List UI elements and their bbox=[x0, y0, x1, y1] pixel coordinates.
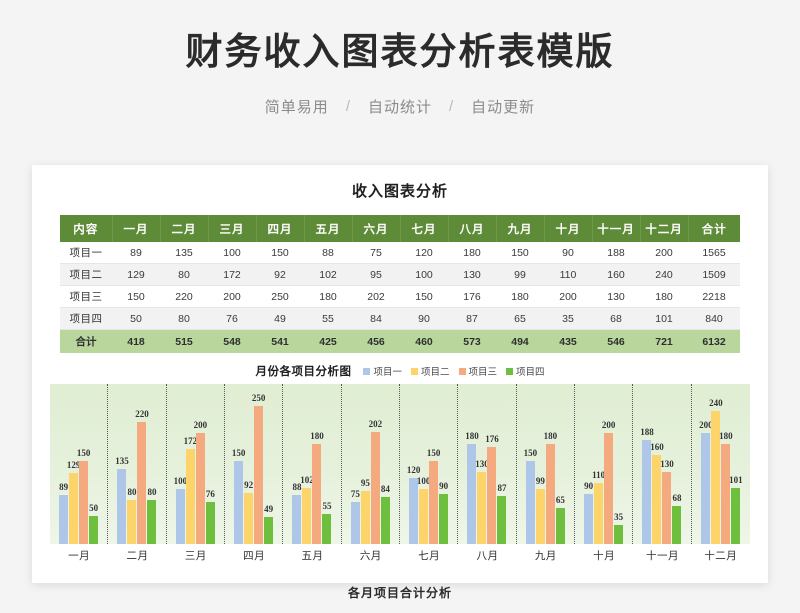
table-cell: 180 bbox=[640, 286, 688, 308]
chart-bar[interactable]: 92 bbox=[244, 493, 253, 544]
table-cell: 90 bbox=[400, 308, 448, 330]
table-cell: 49 bbox=[256, 308, 304, 330]
table-row-label: 项目四 bbox=[60, 308, 112, 330]
table-cell: 88 bbox=[304, 242, 352, 264]
chart-bar-group: 18013017687 bbox=[458, 384, 515, 544]
table-col-header-8: 八月 bbox=[448, 215, 496, 242]
table-header-row: 内容一月二月三月四月五月六月七月八月九月十月十一月十二月合计 bbox=[60, 215, 740, 242]
chart-bar[interactable]: 200 bbox=[196, 433, 205, 544]
table-col-header-5: 五月 bbox=[304, 215, 352, 242]
legend-swatch-icon bbox=[411, 368, 418, 375]
table-col-header-12: 十二月 bbox=[640, 215, 688, 242]
subtitle-separator-2: / bbox=[449, 98, 454, 115]
legend-item-3[interactable]: 项目三 bbox=[459, 364, 498, 378]
table-cell: 80 bbox=[160, 264, 208, 286]
table-cell: 68 bbox=[592, 308, 640, 330]
chart-title: 月份各项目分析图 bbox=[255, 363, 351, 379]
chart-bar-value-label: 150 bbox=[77, 448, 91, 458]
table-cell: 92 bbox=[256, 264, 304, 286]
chart-bar[interactable]: 150 bbox=[234, 461, 243, 544]
chart-x-tick-label: 十一月 bbox=[633, 548, 691, 563]
chart-bar-value-label: 150 bbox=[427, 448, 441, 458]
chart-bar[interactable]: 99 bbox=[536, 489, 545, 544]
chart-bar[interactable]: 89 bbox=[59, 495, 68, 544]
chart-bar[interactable]: 130 bbox=[477, 472, 486, 544]
chart-bar-value-label: 180 bbox=[544, 431, 558, 441]
table-total-cell: 425 bbox=[304, 330, 352, 354]
chart-bar-value-label: 90 bbox=[584, 481, 593, 491]
table-total-cell: 573 bbox=[448, 330, 496, 354]
chart-bar-group: 200240180101 bbox=[692, 384, 750, 544]
table-cell: 150 bbox=[496, 242, 544, 264]
chart-bar[interactable]: 100 bbox=[419, 489, 428, 544]
chart-x-tick-label: 十月 bbox=[575, 548, 633, 563]
chart-month-group: 10017220076 bbox=[167, 384, 225, 544]
chart-x-tick-label: 一月 bbox=[50, 548, 108, 563]
table-cell: 172 bbox=[208, 264, 256, 286]
chart-bar[interactable]: 87 bbox=[497, 496, 506, 544]
chart-bar[interactable]: 80 bbox=[127, 500, 136, 544]
chart-bar[interactable]: 75 bbox=[351, 502, 360, 544]
chart-bar-value-label: 176 bbox=[485, 434, 499, 444]
chart-bar[interactable]: 150 bbox=[526, 461, 535, 544]
table-cell: 65 bbox=[496, 308, 544, 330]
chart-bar-value-label: 65 bbox=[556, 495, 565, 505]
table-cell: 150 bbox=[400, 286, 448, 308]
table-col-header-7: 七月 bbox=[400, 215, 448, 242]
chart-x-tick-label: 七月 bbox=[400, 548, 458, 563]
subtitle-separator-1: / bbox=[346, 98, 351, 115]
chart-bar[interactable]: 220 bbox=[137, 422, 146, 544]
chart-bar-value-label: 87 bbox=[497, 483, 506, 493]
chart-month-group: 8912915050 bbox=[50, 384, 108, 544]
table-cell: 110 bbox=[544, 264, 592, 286]
table-cell: 89 bbox=[112, 242, 160, 264]
chart-bar-value-label: 160 bbox=[650, 442, 664, 452]
table-cell: 75 bbox=[352, 242, 400, 264]
chart-bar-group: 8912915050 bbox=[50, 384, 107, 544]
legend-label: 项目三 bbox=[469, 364, 498, 378]
chart-bar-value-label: 200 bbox=[602, 420, 616, 430]
table-cell: 55 bbox=[304, 308, 352, 330]
table-row: 项目一891351001508875120180150901882001565 bbox=[60, 242, 740, 264]
legend-label: 项目四 bbox=[516, 364, 545, 378]
table-cell: 84 bbox=[352, 308, 400, 330]
chart-bar-value-label: 150 bbox=[524, 448, 538, 458]
chart-bar-value-label: 180 bbox=[310, 431, 324, 441]
chart-month-group: 9011020035 bbox=[575, 384, 633, 544]
legend-swatch-icon bbox=[363, 368, 370, 375]
table-cell: 180 bbox=[304, 286, 352, 308]
table-col-header-11: 十一月 bbox=[592, 215, 640, 242]
chart-bar[interactable]: 65 bbox=[556, 508, 565, 544]
table-total-cell: 494 bbox=[496, 330, 544, 354]
chart-bar[interactable]: 188 bbox=[642, 440, 651, 544]
chart-bar-value-label: 35 bbox=[614, 512, 623, 522]
chart-bar-group: 18816013068 bbox=[633, 384, 690, 544]
chart-bar[interactable]: 150 bbox=[429, 461, 438, 544]
chart-bar-value-label: 200 bbox=[194, 420, 208, 430]
chart-bar-value-label: 95 bbox=[361, 478, 370, 488]
chart-bar-value-label: 180 bbox=[719, 431, 733, 441]
content-card: 收入图表分析 内容一月二月三月四月五月六月七月八月九月十月十一月十二月合计 项目… bbox=[32, 165, 768, 583]
table-total-cell: 456 bbox=[352, 330, 400, 354]
chart-month-group: 759520284 bbox=[342, 384, 400, 544]
chart-bar[interactable]: 76 bbox=[206, 502, 215, 544]
chart-bar-value-label: 188 bbox=[640, 427, 654, 437]
chart-bar-value-label: 130 bbox=[660, 459, 674, 469]
chart-month-group: 18816013068 bbox=[633, 384, 691, 544]
chart-bar[interactable]: 250 bbox=[254, 406, 263, 544]
table-row: 项目二129801729210295100130991101602401509 bbox=[60, 264, 740, 286]
chart-bar[interactable]: 49 bbox=[264, 517, 273, 544]
chart-bar-value-label: 101 bbox=[729, 475, 743, 485]
table-total-cell: 721 bbox=[640, 330, 688, 354]
chart-bar-value-label: 75 bbox=[351, 489, 360, 499]
legend-swatch-icon bbox=[459, 368, 466, 375]
chart-bar-value-label: 90 bbox=[439, 481, 448, 491]
chart-bar-value-label: 89 bbox=[59, 482, 68, 492]
chart-bar[interactable]: 90 bbox=[584, 494, 593, 544]
table-total-cell: 418 bbox=[112, 330, 160, 354]
chart-bar-value-label: 76 bbox=[206, 489, 215, 499]
legend-label: 项目二 bbox=[421, 364, 450, 378]
table-cell: 160 bbox=[592, 264, 640, 286]
chart-month-group: 12010015090 bbox=[400, 384, 458, 544]
table-cell: 150 bbox=[112, 286, 160, 308]
chart-bar[interactable]: 135 bbox=[117, 469, 126, 544]
chart-bar[interactable]: 202 bbox=[371, 432, 380, 544]
table-row: 项目三1502202002501802021501761802001301802… bbox=[60, 286, 740, 308]
chart-bar[interactable]: 200 bbox=[604, 433, 613, 544]
chart-bar[interactable]: 200 bbox=[701, 433, 710, 544]
legend-swatch-icon bbox=[506, 368, 513, 375]
table-cell: 99 bbox=[496, 264, 544, 286]
table-cell: 35 bbox=[544, 308, 592, 330]
table-col-header-1: 一月 bbox=[112, 215, 160, 242]
chart-bar-value-label: 49 bbox=[264, 504, 273, 514]
table-total-cell: 460 bbox=[400, 330, 448, 354]
chart-plot-area: 8912915050135802208010017220076150922504… bbox=[50, 384, 750, 544]
table-cell: 80 bbox=[160, 308, 208, 330]
chart-bar-value-label: 80 bbox=[127, 487, 136, 497]
chart-month-group: 1358022080 bbox=[108, 384, 166, 544]
table-row-label: 项目二 bbox=[60, 264, 112, 286]
chart-bar[interactable]: 180 bbox=[546, 444, 555, 544]
table-row-label: 项目三 bbox=[60, 286, 112, 308]
chart-bar-value-label: 99 bbox=[536, 476, 545, 486]
legend-item-1[interactable]: 项目一 bbox=[363, 364, 402, 378]
chart-bar-value-label: 80 bbox=[147, 487, 156, 497]
table-title: 收入图表分析 bbox=[32, 165, 768, 201]
table-grand-total: 6132 bbox=[688, 330, 740, 354]
chart-bar[interactable]: 90 bbox=[439, 494, 448, 544]
chart-bar-value-label: 150 bbox=[232, 448, 246, 458]
chart-bar[interactable]: 50 bbox=[89, 516, 98, 544]
table-cell: 130 bbox=[448, 264, 496, 286]
table-total-cell: 435 bbox=[544, 330, 592, 354]
chart-bar[interactable]: 68 bbox=[672, 506, 681, 544]
chart-bar[interactable]: 88 bbox=[292, 495, 301, 544]
chart-bar[interactable]: 55 bbox=[322, 514, 331, 544]
chart-bar-group: 8810218055 bbox=[283, 384, 340, 544]
chart-bar-group: 1509918065 bbox=[517, 384, 574, 544]
chart-x-tick-label: 四月 bbox=[225, 548, 283, 563]
chart-bar-value-label: 240 bbox=[709, 398, 723, 408]
table-total-cell: 548 bbox=[208, 330, 256, 354]
table-col-header-2: 二月 bbox=[160, 215, 208, 242]
table-cell: 200 bbox=[640, 242, 688, 264]
table-cell: 95 bbox=[352, 264, 400, 286]
chart-bar[interactable]: 101 bbox=[731, 488, 740, 544]
table-col-header-3: 三月 bbox=[208, 215, 256, 242]
table-cell: 87 bbox=[448, 308, 496, 330]
table-cell: 200 bbox=[208, 286, 256, 308]
table-col-header-0: 内容 bbox=[60, 215, 112, 242]
table-cell: 150 bbox=[256, 242, 304, 264]
chart-bar-group: 1358022080 bbox=[108, 384, 165, 544]
chart-bar-value-label: 92 bbox=[244, 480, 253, 490]
chart-bar-value-label: 180 bbox=[465, 431, 479, 441]
table-cell: 129 bbox=[112, 264, 160, 286]
table-row: 项目四5080764955849087653568101840 bbox=[60, 308, 740, 330]
chart-x-tick-label: 五月 bbox=[283, 548, 341, 563]
table-total-cell: 515 bbox=[160, 330, 208, 354]
table-cell: 101 bbox=[640, 308, 688, 330]
chart-x-tick-label: 二月 bbox=[108, 548, 166, 563]
chart-bar[interactable]: 84 bbox=[381, 497, 390, 544]
chart-x-tick-label: 六月 bbox=[342, 548, 400, 563]
legend-item-4[interactable]: 项目四 bbox=[506, 364, 545, 378]
legend-item-2[interactable]: 项目二 bbox=[411, 364, 450, 378]
chart-month-group: 1509225049 bbox=[225, 384, 283, 544]
table-total-cell: 541 bbox=[256, 330, 304, 354]
table-cell: 100 bbox=[400, 264, 448, 286]
table-cell: 240 bbox=[640, 264, 688, 286]
chart-month-group: 1509918065 bbox=[517, 384, 575, 544]
table-row-total: 1565 bbox=[688, 242, 740, 264]
chart-bar[interactable]: 110 bbox=[594, 483, 603, 544]
income-table: 内容一月二月三月四月五月六月七月八月九月十月十一月十二月合计 项目一891351… bbox=[60, 215, 740, 353]
table-cell: 90 bbox=[544, 242, 592, 264]
chart-bar[interactable]: 150 bbox=[79, 461, 88, 544]
chart-bar-value-label: 68 bbox=[672, 493, 681, 503]
chart-bar-group: 12010015090 bbox=[400, 384, 457, 544]
chart-bar[interactable]: 102 bbox=[302, 488, 311, 544]
chart-bar-value-label: 50 bbox=[89, 503, 98, 513]
chart-bar-group: 1509225049 bbox=[225, 384, 282, 544]
table-row-total: 840 bbox=[688, 308, 740, 330]
table-cell: 202 bbox=[352, 286, 400, 308]
chart-bar[interactable]: 80 bbox=[147, 500, 156, 544]
chart-bar[interactable]: 172 bbox=[186, 449, 195, 544]
chart-month-group: 200240180101 bbox=[692, 384, 750, 544]
subtitle-item-1: 简单易用 bbox=[265, 96, 329, 117]
table-col-header-10: 十月 bbox=[544, 215, 592, 242]
table-cell: 220 bbox=[160, 286, 208, 308]
table-cell: 76 bbox=[208, 308, 256, 330]
table-total-label: 合计 bbox=[60, 330, 112, 354]
chart-bar[interactable]: 129 bbox=[69, 473, 78, 544]
table-col-header-6: 六月 bbox=[352, 215, 400, 242]
chart-bar-value-label: 84 bbox=[381, 484, 390, 494]
table-col-header-13: 合计 bbox=[688, 215, 740, 242]
chart-bar-value-label: 202 bbox=[369, 419, 383, 429]
chart-bar[interactable]: 180 bbox=[721, 444, 730, 544]
subtitle-item-3: 自动更新 bbox=[471, 96, 535, 117]
chart-header: 月份各项目分析图 项目一项目二项目三项目四 bbox=[32, 363, 768, 379]
chart-bar[interactable]: 95 bbox=[361, 491, 370, 544]
chart-bar-value-label: 55 bbox=[322, 501, 331, 511]
chart-x-tick-label: 八月 bbox=[458, 548, 516, 563]
chart-bar-value-label: 135 bbox=[115, 456, 129, 466]
table-total-cell: 546 bbox=[592, 330, 640, 354]
table-cell: 102 bbox=[304, 264, 352, 286]
chart-bar[interactable]: 35 bbox=[614, 525, 623, 544]
chart-bar-value-label: 220 bbox=[135, 409, 149, 419]
table-row-total: 2218 bbox=[688, 286, 740, 308]
table-cell: 120 bbox=[400, 242, 448, 264]
page-header: 财务收入图表分析表模版 简单易用 / 自动统计 / 自动更新 bbox=[0, 0, 800, 117]
page-title: 财务收入图表分析表模版 bbox=[0, 30, 800, 74]
table-cell: 135 bbox=[160, 242, 208, 264]
bottom-chart-title: 各月项目合计分析 bbox=[32, 584, 768, 601]
chart-x-tick-label: 三月 bbox=[167, 548, 225, 563]
chart-x-tick-label: 十二月 bbox=[692, 548, 750, 563]
table-total-row: 合计41851554854142545646057349443554672161… bbox=[60, 330, 740, 354]
table-cell: 176 bbox=[448, 286, 496, 308]
chart-bar-group: 10017220076 bbox=[167, 384, 224, 544]
table-cell: 250 bbox=[256, 286, 304, 308]
subtitle-item-2: 自动统计 bbox=[368, 96, 432, 117]
table-cell: 50 bbox=[112, 308, 160, 330]
chart-x-tick-label: 九月 bbox=[517, 548, 575, 563]
table-col-header-9: 九月 bbox=[496, 215, 544, 242]
page-subtitle: 简单易用 / 自动统计 / 自动更新 bbox=[0, 96, 800, 117]
chart-bar[interactable]: 130 bbox=[662, 472, 671, 544]
table-cell: 200 bbox=[544, 286, 592, 308]
table-cell: 180 bbox=[496, 286, 544, 308]
table-col-header-4: 四月 bbox=[256, 215, 304, 242]
chart-bar-group: 9011020035 bbox=[575, 384, 632, 544]
chart-month-group: 18013017687 bbox=[458, 384, 516, 544]
table-cell: 180 bbox=[448, 242, 496, 264]
table-cell: 100 bbox=[208, 242, 256, 264]
chart-x-axis: 一月二月三月四月五月六月七月八月九月十月十一月十二月 bbox=[50, 544, 750, 568]
chart-bar[interactable]: 180 bbox=[312, 444, 321, 544]
table-row-label: 项目一 bbox=[60, 242, 112, 264]
table-row-total: 1509 bbox=[688, 264, 740, 286]
chart-legend: 项目一项目二项目三项目四 bbox=[363, 364, 544, 378]
table-cell: 188 bbox=[592, 242, 640, 264]
chart-bar-value-label: 250 bbox=[252, 393, 266, 403]
legend-label: 项目一 bbox=[373, 364, 402, 378]
chart-bar-value-label: 120 bbox=[407, 465, 421, 475]
chart-bar[interactable]: 100 bbox=[176, 489, 185, 544]
chart-month-group: 8810218055 bbox=[283, 384, 341, 544]
chart-bar-group: 759520284 bbox=[342, 384, 399, 544]
chart-bar[interactable]: 176 bbox=[487, 447, 496, 544]
chart-bar[interactable]: 120 bbox=[409, 478, 418, 544]
table-cell: 130 bbox=[592, 286, 640, 308]
